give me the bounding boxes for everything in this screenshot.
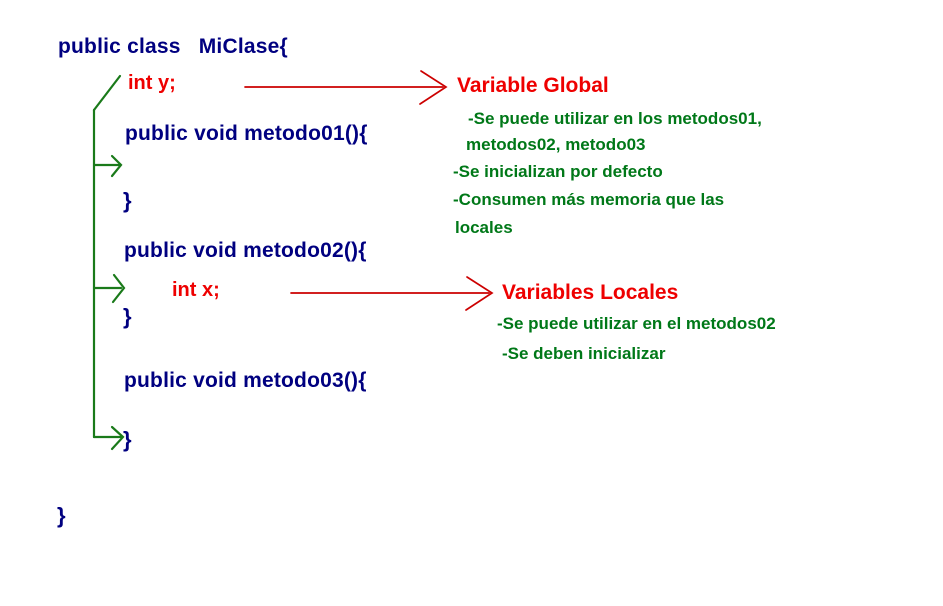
code-method03-close: }: [123, 429, 132, 451]
code-method02-close: }: [123, 306, 132, 328]
scope-bracket-icon: [94, 76, 120, 437]
annotation-global-note: -Se inicializan por defecto: [453, 163, 663, 180]
code-field-local: int x;: [172, 280, 220, 300]
code-field-global: int y;: [128, 73, 176, 93]
annotation-local-title: Variables Locales: [502, 282, 678, 303]
scope-branch-1-arrow-right-icon: [94, 156, 121, 176]
scope-branch-2-arrow-right-icon: [94, 275, 124, 302]
annotation-local-note: -Se deben inicializar: [502, 345, 665, 362]
code-class-close: }: [57, 505, 66, 527]
code-method03-header: public void metodo03(){: [124, 370, 367, 391]
annotation-global-note: locales: [455, 219, 513, 236]
code-class-header: public class MiClase{: [58, 36, 288, 57]
arrow-local-icon: [291, 277, 492, 310]
code-method01-header: public void metodo01(){: [125, 123, 368, 144]
code-method02-header: public void metodo02(){: [124, 240, 367, 261]
annotation-global-note: metodos02, metodo03: [466, 136, 646, 153]
code-method01-close: }: [123, 190, 132, 212]
annotation-local-note: -Se puede utilizar en el metodos02: [497, 315, 776, 332]
annotation-global-title: Variable Global: [457, 75, 609, 96]
annotation-global-note: -Consumen más memoria que las: [453, 191, 724, 208]
scope-branch-3-arrow-right-icon: [94, 427, 123, 449]
arrow-global-icon: [245, 71, 446, 104]
diagram-canvas: public class MiClase{ int y; public void…: [0, 0, 943, 606]
annotation-global-note: -Se puede utilizar en los metodos01,: [468, 110, 762, 127]
